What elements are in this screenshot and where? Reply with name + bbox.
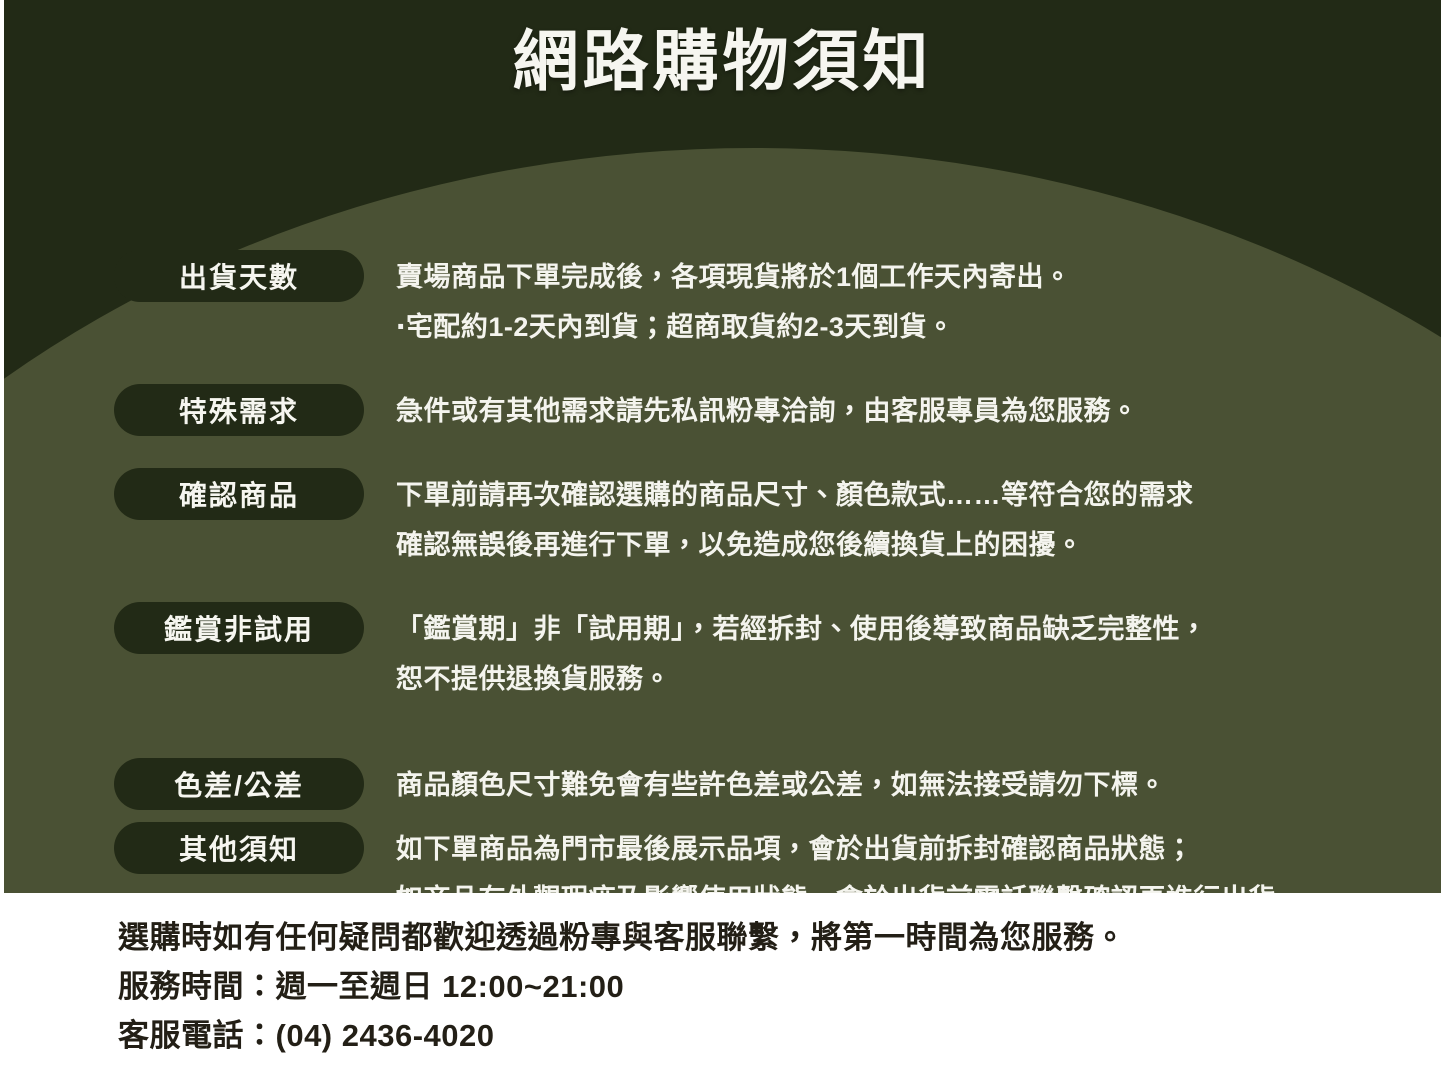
row-line: 確認無誤後再進行下單，以免造成您後續換貨上的困擾。 (396, 520, 1441, 570)
page-title: 網路購物須知 (4, 24, 1441, 100)
footer-contact-invitation: 選購時如有任何疑問都歡迎透過粉專與客服聯繫，將第一時間為您服務。 (118, 913, 1441, 962)
row-body-color-tolerance: 商品顏色尺寸難免會有些許色差或公差，如無法接受請勿下標。 (364, 756, 1441, 810)
row-body-inspection-not-trial: 「鑑賞期」非「試用期」，若經拆封、使用後導致商品缺乏完整性， 恕不提供退換貨服務… (364, 600, 1441, 704)
row-label-pill-shipping-days: 出貨天數 (114, 250, 364, 302)
row-line: 商品顏色尺寸難免會有些許色差或公差，如無法接受請勿下標。 (396, 760, 1441, 810)
row-line: 急件或有其他需求請先私訊粉專洽詢，由客服專員為您服務。 (396, 386, 1441, 436)
notice-row-other-notes: 其他須知 如下單商品為門市最後展示品項，會於出貨前拆封確認商品狀態； 如商品有外… (4, 820, 1441, 893)
row-body-special-request: 急件或有其他需求請先私訊粉專洽詢，由客服專員為您服務。 (364, 382, 1441, 436)
row-body-other-notes: 如下單商品為門市最後展示品項，會於出貨前拆封確認商品狀態； 如商品有外觀瑕疵及影… (364, 820, 1441, 893)
row-line: 如下單商品為門市最後展示品項，會於出貨前拆封確認商品狀態； (396, 824, 1441, 874)
notice-row-special-request: 特殊需求 急件或有其他需求請先私訊粉專洽詢，由客服專員為您服務。 (4, 382, 1441, 436)
footer-service-hours: 服務時間：週一至週日 12:00~21:00 (118, 962, 1441, 1011)
row-line: ‧宅配約1-2天內到貨；超商取貨約2-3天到貨。 (396, 302, 1441, 352)
row-line: 賣場商品下單完成後，各項現貨將於1個工作天內寄出。 (396, 252, 1441, 302)
row-body-confirm-product: 下單前請再次確認選購的商品尺寸、顏色款式……等符合您的需求 確認無誤後再進行下單… (364, 466, 1441, 570)
row-line: 下單前請再次確認選購的商品尺寸、顏色款式……等符合您的需求 (396, 470, 1441, 520)
notice-row-confirm-product: 確認商品 下單前請再次確認選購的商品尺寸、顏色款式……等符合您的需求 確認無誤後… (4, 466, 1441, 570)
row-label-pill-other-notes: 其他須知 (114, 822, 364, 874)
row-label-pill-confirm-product: 確認商品 (114, 468, 364, 520)
contact-footer: 選購時如有任何疑問都歡迎透過粉專與客服聯繫，將第一時間為您服務。 服務時間：週一… (0, 893, 1441, 1080)
row-label-pill-special-request: 特殊需求 (114, 384, 364, 436)
row-line: 恕不提供退換貨服務。 (396, 654, 1441, 704)
row-label-pill-color-tolerance: 色差/公差 (114, 758, 364, 810)
notice-row-color-tolerance: 色差/公差 商品顏色尺寸難免會有些許色差或公差，如無法接受請勿下標。 (4, 756, 1441, 810)
notice-rows: 出貨天數 賣場商品下單完成後，各項現貨將於1個工作天內寄出。 ‧宅配約1-2天內… (4, 248, 1441, 893)
row-body-shipping-days: 賣場商品下單完成後，各項現貨將於1個工作天內寄出。 ‧宅配約1-2天內到貨；超商… (364, 248, 1441, 352)
footer-service-phone: 客服電話：(04) 2436-4020 (118, 1011, 1441, 1060)
notice-row-shipping-days: 出貨天數 賣場商品下單完成後，各項現貨將於1個工作天內寄出。 ‧宅配約1-2天內… (4, 248, 1441, 352)
row-line: 「鑑賞期」非「試用期」，若經拆封、使用後導致商品缺乏完整性， (396, 604, 1441, 654)
notice-panel: 網路購物須知 出貨天數 賣場商品下單完成後，各項現貨將於1個工作天內寄出。 ‧宅… (4, 0, 1441, 893)
row-label-pill-inspection-not-trial: 鑑賞非試用 (114, 602, 364, 654)
notice-row-inspection-not-trial: 鑑賞非試用 「鑑賞期」非「試用期」，若經拆封、使用後導致商品缺乏完整性， 恕不提… (4, 600, 1441, 704)
shopping-notice-page: 網路購物須知 出貨天數 賣場商品下單完成後，各項現貨將於1個工作天內寄出。 ‧宅… (0, 0, 1441, 1080)
row-line: 如商品有外觀瑕疵及影響使用狀態，會於出貨前電話聯繫確認再進行出貨。 (396, 874, 1441, 893)
